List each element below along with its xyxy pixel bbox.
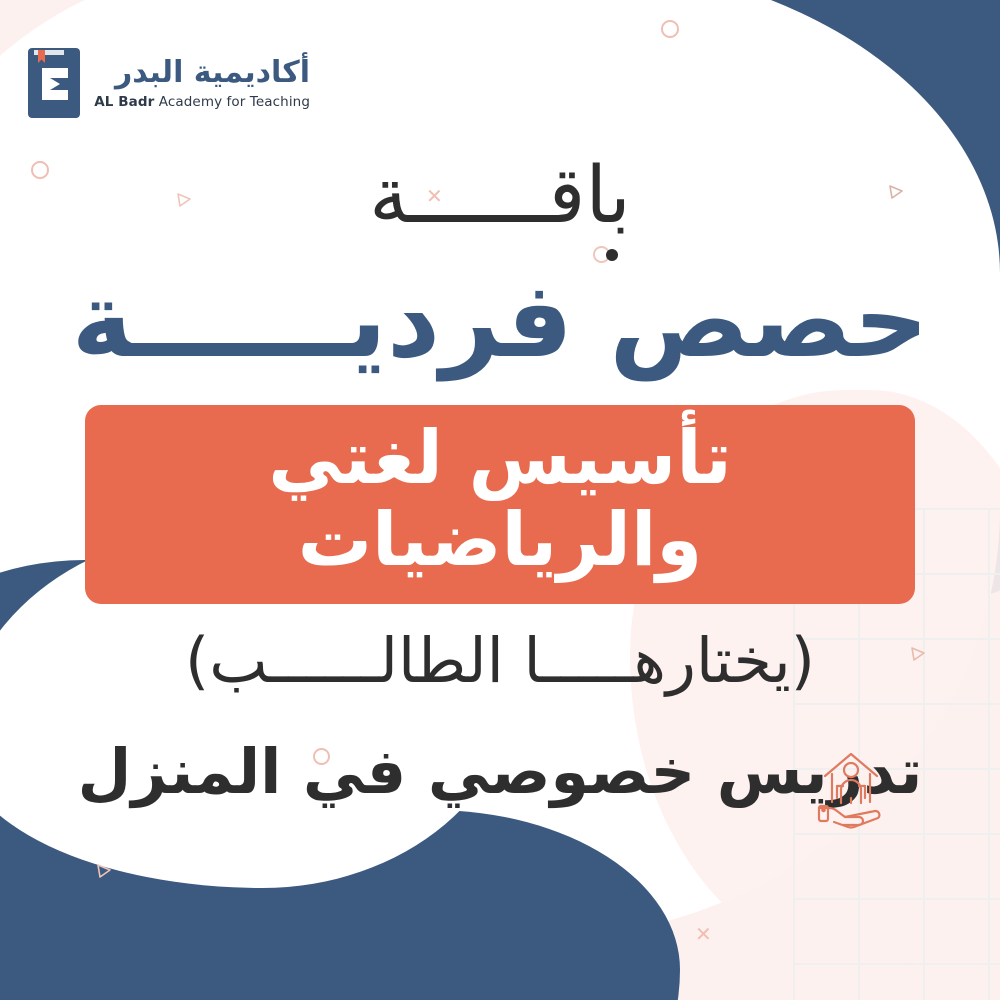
poster-canvas: ✕ ✕ أكاديمية البدر AL Badr Academy for T…: [0, 0, 1000, 1000]
house-in-hand-icon: [815, 748, 887, 832]
cross-decoration-icon: ✕: [695, 924, 712, 944]
logo-arabic-name: أكاديمية البدر: [94, 56, 310, 90]
triangle-decoration-icon: [94, 861, 114, 881]
subjects-banner: تأسيس لغتي والرياضيات: [85, 405, 915, 605]
headline-line-baqa: باقــــــة: [0, 150, 1000, 242]
logo-english-bold: AL Badr: [94, 94, 154, 110]
brand-logo[interactable]: أكاديمية البدر AL Badr Academy for Teach…: [22, 46, 310, 120]
headline-line-private-sessions: حصص فرديــــــة: [0, 262, 1000, 378]
logo-english-name: AL Badr Academy for Teaching: [94, 94, 310, 110]
headline-line-student-chooses: (يختارهـــــا الطالــــــب): [0, 624, 1000, 698]
banner-wrapper: تأسيس لغتي والرياضيات: [0, 405, 1000, 605]
logo-text-block: أكاديمية البدر AL Badr Academy for Teach…: [94, 56, 310, 110]
logo-english-rest: Academy for Teaching: [154, 94, 310, 110]
headline-stack: باقــــــة حصص فرديــــــة تأسيس لغتي وا…: [0, 150, 1000, 809]
book-b-monogram-icon: [22, 46, 84, 120]
circle-decoration-icon: [661, 20, 679, 38]
